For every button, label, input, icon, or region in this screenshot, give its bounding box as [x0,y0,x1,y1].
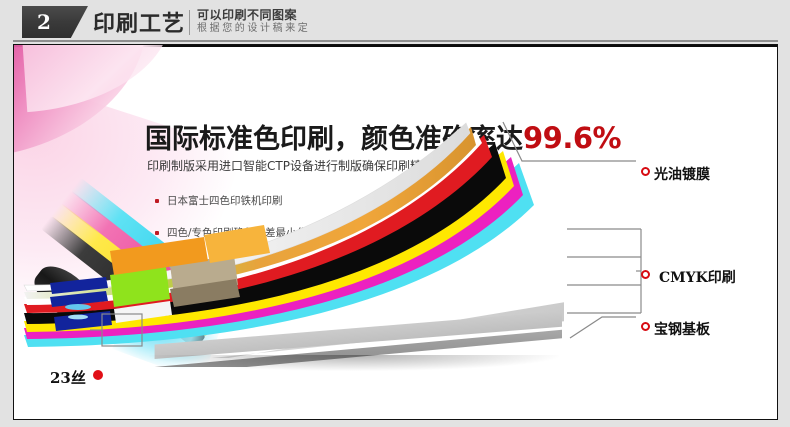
header-divider [189,10,190,35]
feature-bullet-list: 日本富士四色印铁机印刷 四色/专色印刷确保色差最小化 [155,193,307,257]
callout-label-thickness: 23丝 [50,367,86,388]
pink-swoosh-primary [13,44,162,156]
bullet-text: 日本富士四色印铁机印刷 [167,193,283,208]
panel-top-bar [13,44,778,47]
content-panel: 国际标准色印刷，颜色准确率达99.6% 印刷制版采用进口智能CTP设备进行制版确… [13,44,778,420]
headline-text: 国际标准色印刷，颜色准确率达 [145,124,523,155]
callout-label-cmyk: CMYK印刷 [659,267,736,287]
marker-ring-coating [641,167,650,176]
list-item: 日本富士四色印铁机印刷 [155,193,307,208]
list-item: 四色/专色印刷确保色差最小化 [155,225,307,240]
leader-line-substrate [570,317,636,338]
section-number-badge: 2 [22,6,88,38]
header-subtitle-line2: 根据您的设计稿来定 [197,22,310,35]
slab-drop-shadow [149,355,559,371]
leader-bracket-cmyk [567,229,641,313]
bullet-dot-icon [155,199,159,203]
callout-label-coating: 光油镀膜 [654,164,710,184]
section-number: 2 [22,10,51,34]
page-subheadline: 印刷制版采用进口智能CTP设备进行制版确保印刷精准度 [147,157,446,174]
bullet-dot-icon [155,231,159,235]
headline-percentage: 99.6% [523,121,621,155]
section-title: 印刷工艺 [93,6,185,38]
page-headline: 国际标准色印刷，颜色准确率达99.6% [145,117,621,156]
header-subtitle-line1: 可以印刷不同图案 [197,8,310,22]
header-rule-primary [13,40,778,42]
pink-swoosh-secondary [21,44,177,112]
marker-ring-substrate [641,322,650,331]
marker-ring-cmyk [641,270,650,279]
bullet-text: 四色/专色印刷确保色差最小化 [167,225,307,240]
marker-dot-thickness [93,370,103,380]
page-root: 2 印刷工艺 可以印刷不同图案 根据您的设计稿来定 [0,0,790,427]
section-header: 2 印刷工艺 可以印刷不同图案 根据您的设计稿来定 [13,4,778,40]
header-subtitle: 可以印刷不同图案 根据您的设计稿来定 [197,8,310,35]
callout-label-substrate: 宝钢基板 [654,319,710,339]
